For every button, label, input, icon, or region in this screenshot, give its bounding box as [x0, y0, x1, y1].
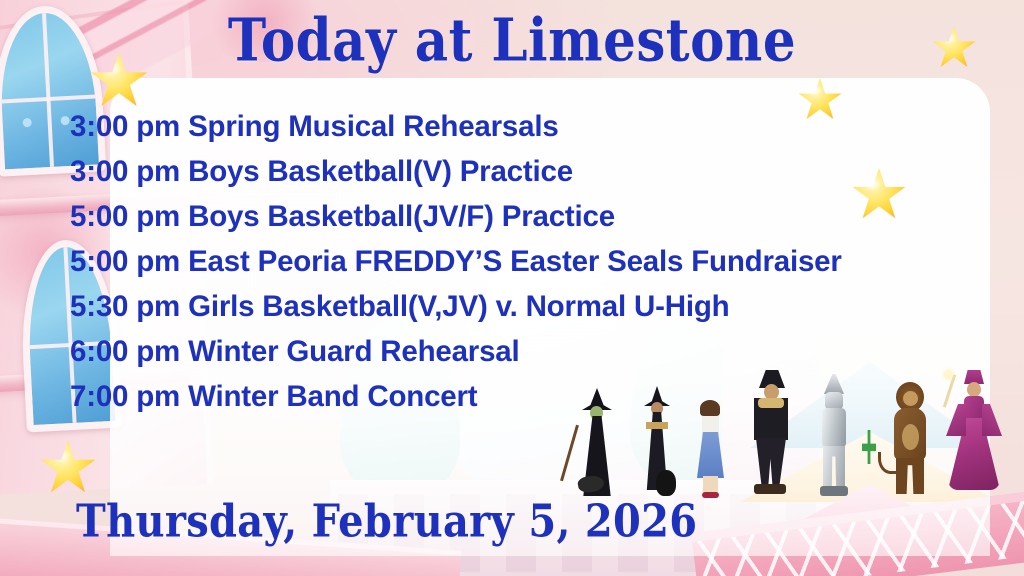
- glinda-sleeve-right: [982, 404, 1002, 436]
- character-witch-with-cat: [632, 386, 680, 498]
- window-dot-right: [60, 116, 69, 125]
- dorothy-shoes: [702, 492, 719, 498]
- character-glinda: [942, 370, 1004, 498]
- head: [967, 382, 981, 397]
- tin-man-torso: [822, 408, 846, 448]
- lion-legs: [896, 458, 924, 494]
- glinda-wand-star-icon: [944, 370, 953, 379]
- tin-man-funnel-hat: [824, 374, 844, 394]
- scarecrow-collar: [758, 398, 784, 408]
- list-item: 5:00 pm Boys Basketball(JV/F) Practice: [70, 194, 1000, 239]
- tin-man-boots: [820, 486, 848, 496]
- character-lion: [882, 382, 934, 498]
- lion-face: [903, 391, 918, 406]
- wizard-of-oz-character-group: [566, 358, 966, 498]
- scarecrow-boots: [754, 484, 786, 494]
- dorothy-dress: [697, 432, 724, 478]
- tin-man-legs: [823, 446, 845, 490]
- window-dot-left: [22, 118, 31, 127]
- cat: [656, 470, 676, 496]
- scarecrow-legs: [756, 438, 786, 490]
- poster-canvas: Today at Limestone 3:00 pm Spring Musica…: [0, 0, 1024, 576]
- dorothy-hair: [700, 400, 720, 416]
- glinda-wand: [943, 374, 956, 407]
- character-scarecrow: [742, 370, 798, 498]
- shrub-decoration: [862, 430, 876, 464]
- lion-tail: [878, 452, 896, 474]
- character-witch: [570, 388, 624, 498]
- sash: [646, 422, 668, 429]
- list-item: 5:30 pm Girls Basketball(V,JV) v. Normal…: [70, 284, 1000, 329]
- glinda-sleeve-left: [946, 404, 966, 436]
- list-item: 5:00 pm East Peoria FREDDY’S Easter Seal…: [70, 239, 1000, 284]
- list-item: 3:00 pm Spring Musical Rehearsals: [70, 104, 1000, 149]
- page-title: Today at Limestone: [5, 4, 1019, 79]
- date-label: Thursday, February 5, 2026: [76, 494, 697, 550]
- character-tin-man: [810, 374, 858, 498]
- lion-belly: [902, 424, 919, 450]
- character-dorothy: [690, 398, 730, 498]
